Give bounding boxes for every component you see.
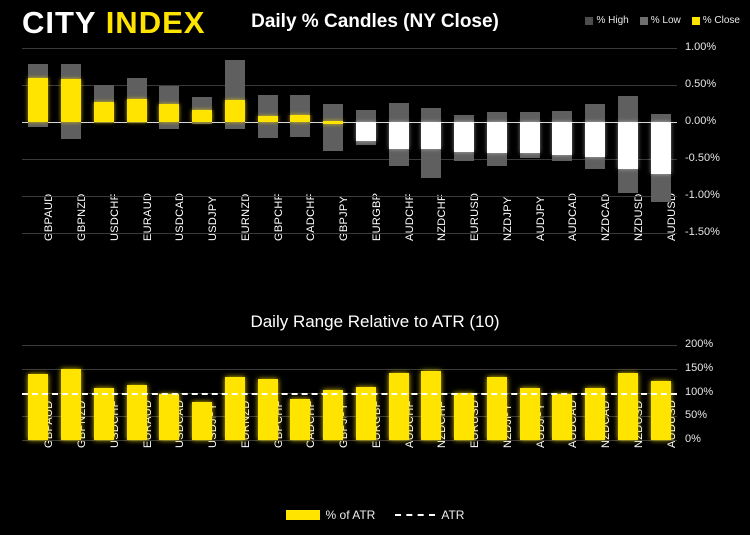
atr-bar — [454, 393, 474, 440]
candle-body — [585, 122, 605, 157]
legend-swatch-close-icon — [692, 17, 700, 25]
candles-x-tick-label: NZDJPY — [502, 196, 514, 241]
candles-x-tick-label: GBPJPY — [338, 196, 350, 241]
atr-bar — [356, 387, 376, 440]
atr-y-tick-label: 200% — [685, 338, 713, 350]
candle-body — [454, 122, 474, 152]
candle-body — [389, 122, 409, 149]
atr-bar — [552, 394, 572, 440]
atr-legend-swatch-box-icon — [286, 510, 320, 520]
candles-gridline — [22, 48, 677, 49]
atr-bar — [225, 377, 245, 440]
legend-label: % Close — [703, 15, 740, 26]
candle-body — [94, 102, 114, 122]
atr-gridline — [22, 416, 677, 417]
atr-bar — [28, 374, 48, 441]
candle-body — [192, 110, 212, 122]
atr-bar — [520, 388, 540, 440]
candles-y-tick-label: 0.00% — [685, 115, 716, 127]
candles-zero-line — [22, 122, 677, 123]
legend-item-close: % Close — [692, 15, 740, 26]
candles-gridline — [22, 159, 677, 160]
candle-body — [552, 122, 572, 155]
candle-body — [421, 122, 441, 149]
atr-reference-line — [22, 393, 677, 395]
candles-legend: % High% Low% Close — [585, 15, 740, 26]
candle-body — [323, 121, 343, 124]
candle-body — [651, 122, 671, 174]
candles-y-tick-label: 0.50% — [685, 78, 716, 90]
atr-gridline — [22, 369, 677, 370]
atr-gridline — [22, 345, 677, 346]
atr-bar — [192, 402, 212, 440]
atr-y-tick-label: 0% — [685, 433, 701, 445]
candles-x-tick-label: USDJPY — [207, 196, 219, 241]
atr-bar — [389, 373, 409, 440]
atr-legend-item: ATR — [395, 508, 464, 522]
legend-item-low: % Low — [640, 15, 681, 26]
candles-y-tick-label: -1.00% — [685, 189, 720, 201]
candle-wick — [323, 104, 343, 151]
legend-swatch-low-icon — [640, 17, 648, 25]
candles-gridline — [22, 233, 677, 234]
atr-bar — [618, 373, 638, 440]
atr-bar — [651, 381, 671, 440]
atr-bar — [585, 388, 605, 440]
legend-label: % High — [596, 15, 628, 26]
candles-gridline — [22, 85, 677, 86]
atr-bar — [487, 377, 507, 440]
legend-swatch-high-icon — [585, 17, 593, 25]
atr-legend-label: % of ATR — [326, 508, 376, 522]
candle-body — [356, 122, 376, 141]
legend-label: % Low — [651, 15, 681, 26]
candles-y-tick-label: -1.50% — [685, 226, 720, 238]
candle-body — [127, 99, 147, 122]
atr-legend: % of ATRATR — [0, 508, 750, 522]
candles-y-tick-label: -0.50% — [685, 152, 720, 164]
candle-body — [61, 79, 81, 122]
candle-body — [618, 122, 638, 169]
candle-body — [28, 78, 48, 122]
atr-legend-label: ATR — [441, 508, 464, 522]
atr-bar — [258, 379, 278, 440]
candles-gridline — [22, 196, 677, 197]
atr-y-tick-label: 50% — [685, 409, 707, 421]
atr-bar — [61, 369, 81, 440]
atr-y-tick-label: 150% — [685, 362, 713, 374]
chart-page: CITY INDEX Daily % Candles (NY Close) % … — [0, 0, 750, 535]
candle-body — [520, 122, 540, 153]
atr-bar — [290, 399, 310, 440]
candle-body — [258, 116, 278, 122]
candle-body — [225, 100, 245, 122]
atr-bar — [94, 388, 114, 440]
candles-y-tick-label: 1.00% — [685, 41, 716, 53]
atr-gridline — [22, 440, 677, 441]
candle-body — [290, 115, 310, 122]
atr-bar — [421, 371, 441, 440]
candle-body — [487, 122, 507, 153]
atr-bar — [323, 390, 343, 440]
header: CITY INDEX Daily % Candles (NY Close) % … — [0, 0, 750, 42]
candles-x-tick-label: AUDJPY — [535, 196, 547, 241]
atr-bar — [159, 394, 179, 440]
candle-body — [159, 104, 179, 122]
legend-item-high: % High — [585, 15, 628, 26]
atr-chart-title: Daily Range Relative to ATR (10) — [0, 312, 750, 332]
atr-y-tick-label: 100% — [685, 386, 713, 398]
atr-legend-swatch-dash-icon — [395, 514, 435, 516]
atr-legend-item: % of ATR — [286, 508, 376, 522]
